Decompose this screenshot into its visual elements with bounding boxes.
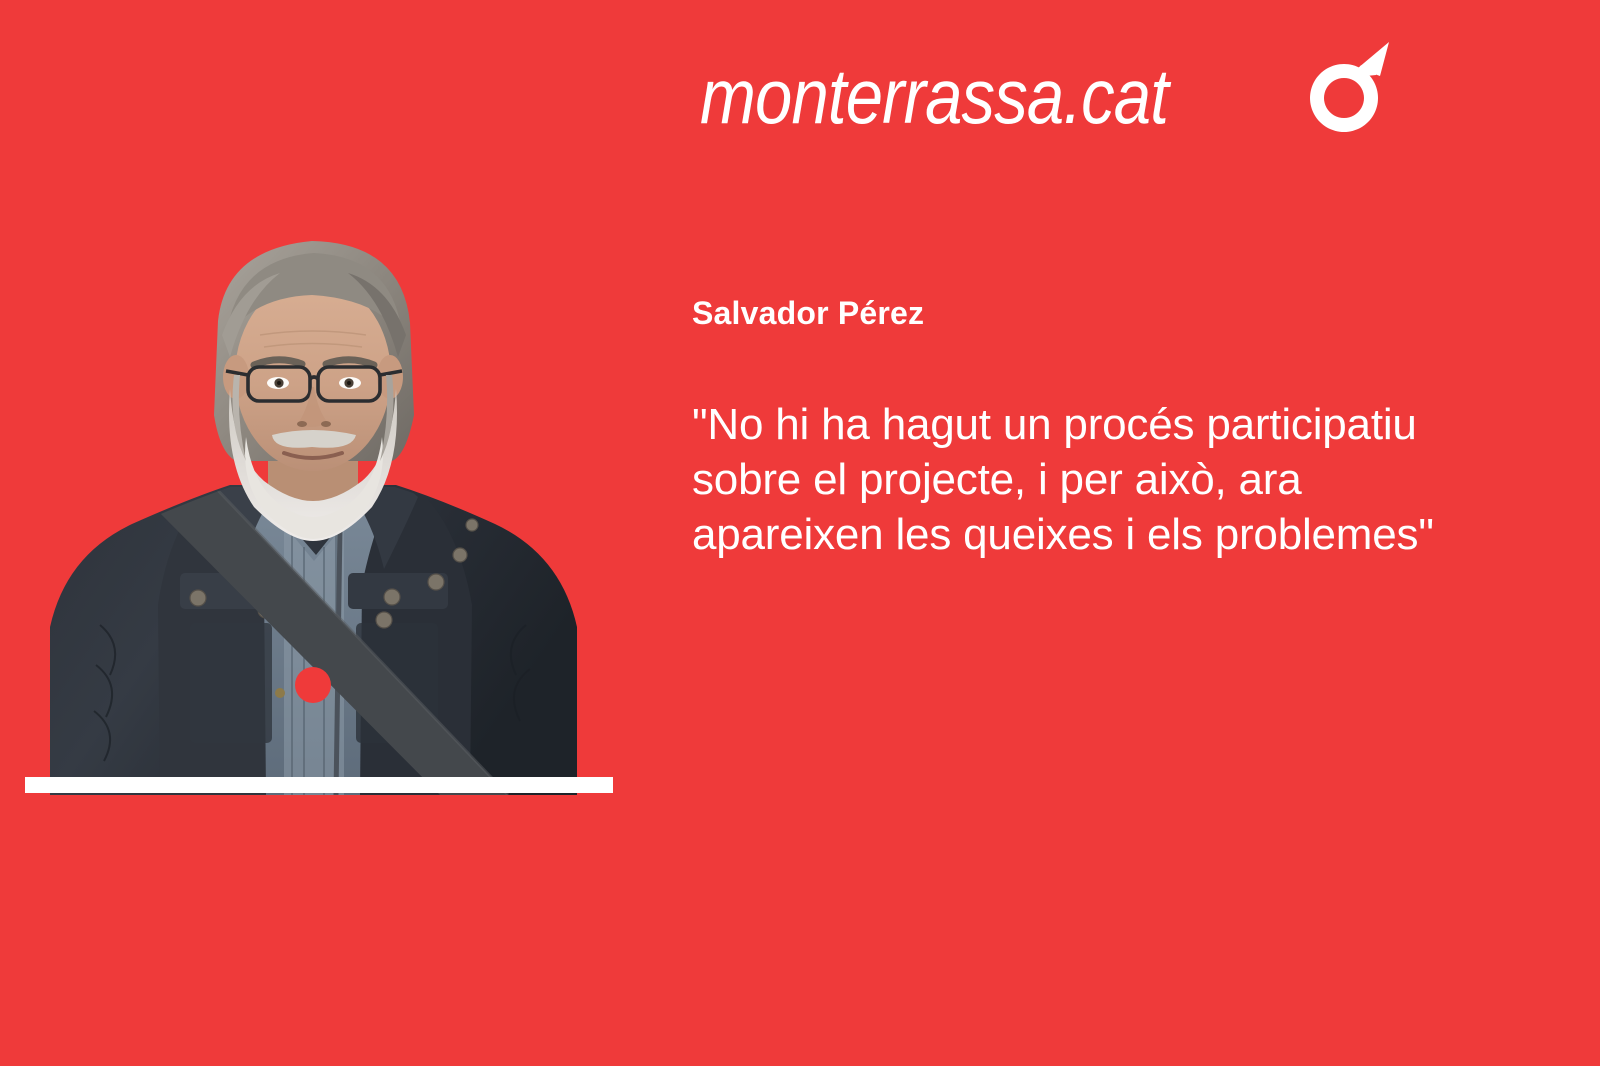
speaker-name: Salvador Pérez xyxy=(692,296,1512,331)
monterrassa-circle-flame-icon xyxy=(1296,42,1392,150)
brand-logo[interactable]: monterrassa.cat xyxy=(700,46,1392,146)
portrait-underline-rule xyxy=(25,777,613,793)
brand-wordmark: monterrassa.cat xyxy=(700,57,1168,135)
quote-card: monterrassa.cat xyxy=(0,0,1600,1066)
accent-dot xyxy=(295,667,331,703)
quote-body: "No hi ha hagut un procés participatiu s… xyxy=(692,331,1492,562)
quote-text-block: Salvador Pérez "No hi ha hagut un procés… xyxy=(692,296,1512,562)
portrait-photo xyxy=(40,225,585,795)
